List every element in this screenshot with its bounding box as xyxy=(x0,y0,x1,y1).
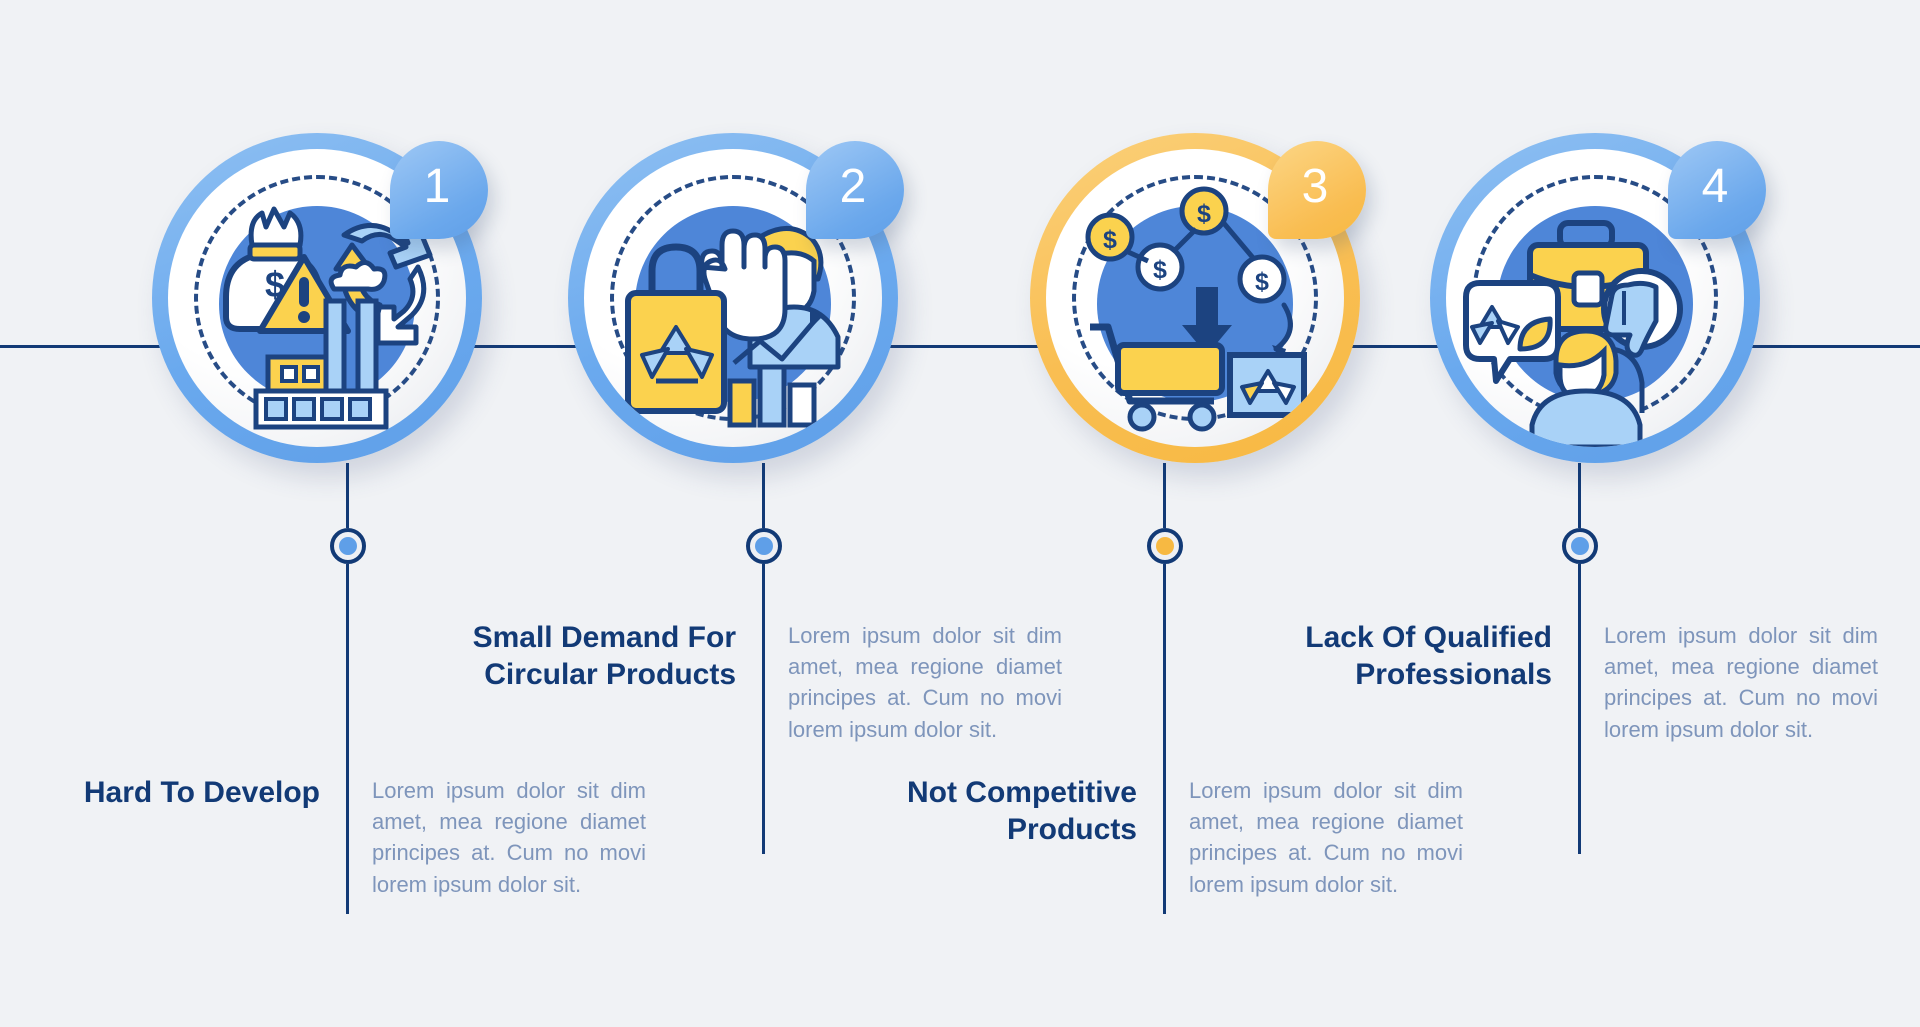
svg-text:$: $ xyxy=(1197,200,1211,228)
step-stem-1 xyxy=(346,463,349,528)
step-dot-2[interactable] xyxy=(746,528,782,564)
step-badge-4: 4 xyxy=(1668,141,1766,239)
step-title-2: Small Demand For Circular Products xyxy=(462,620,762,693)
step-stem-4 xyxy=(1578,463,1581,528)
svg-text:$: $ xyxy=(1153,256,1167,284)
step-node-1[interactable]: $ xyxy=(152,133,482,463)
step-text-4: Lack Of Qualified Professionals Lorem ip… xyxy=(1278,620,1878,745)
infographic-canvas: $ xyxy=(0,0,1920,1027)
svg-text:$: $ xyxy=(1255,268,1269,296)
step-number-2: 2 xyxy=(840,159,867,214)
step-stem-2 xyxy=(762,463,765,528)
step-dot-3[interactable] xyxy=(1147,528,1183,564)
step-stem-3 xyxy=(1163,463,1166,528)
step-badge-3: 3 xyxy=(1268,141,1366,239)
step-title-4: Lack Of Qualified Professionals xyxy=(1278,620,1578,693)
step-description-1: Lorem ipsum dolor sit dim amet, mea regi… xyxy=(346,775,646,900)
step-number-1: 1 xyxy=(424,159,451,214)
step-text-1: Hard To Develop Lorem ipsum dolor sit di… xyxy=(46,775,646,900)
step-node-2[interactable]: 2 xyxy=(568,133,898,463)
step-number-4: 4 xyxy=(1702,159,1729,214)
step-node-4[interactable]: 4 xyxy=(1430,133,1760,463)
step-title-3: Not Competitive Products xyxy=(863,775,1163,848)
step-badge-2: 2 xyxy=(806,141,904,239)
step-dot-1[interactable] xyxy=(330,528,366,564)
step-text-2: Small Demand For Circular Products Lorem… xyxy=(462,620,1062,745)
step-description-4: Lorem ipsum dolor sit dim amet, mea regi… xyxy=(1578,620,1878,745)
step-description-2: Lorem ipsum dolor sit dim amet, mea regi… xyxy=(762,620,1062,745)
step-title-1: Hard To Develop xyxy=(46,775,346,812)
step-dot-4[interactable] xyxy=(1562,528,1598,564)
step-number-3: 3 xyxy=(1302,159,1329,214)
svg-text:$: $ xyxy=(1103,226,1117,254)
step-badge-1: 1 xyxy=(390,141,488,239)
step-text-3: Not Competitive Products Lorem ipsum dol… xyxy=(863,775,1463,900)
step-node-3[interactable]: $ $ $ $ xyxy=(1030,133,1360,463)
step-description-3: Lorem ipsum dolor sit dim amet, mea regi… xyxy=(1163,775,1463,900)
